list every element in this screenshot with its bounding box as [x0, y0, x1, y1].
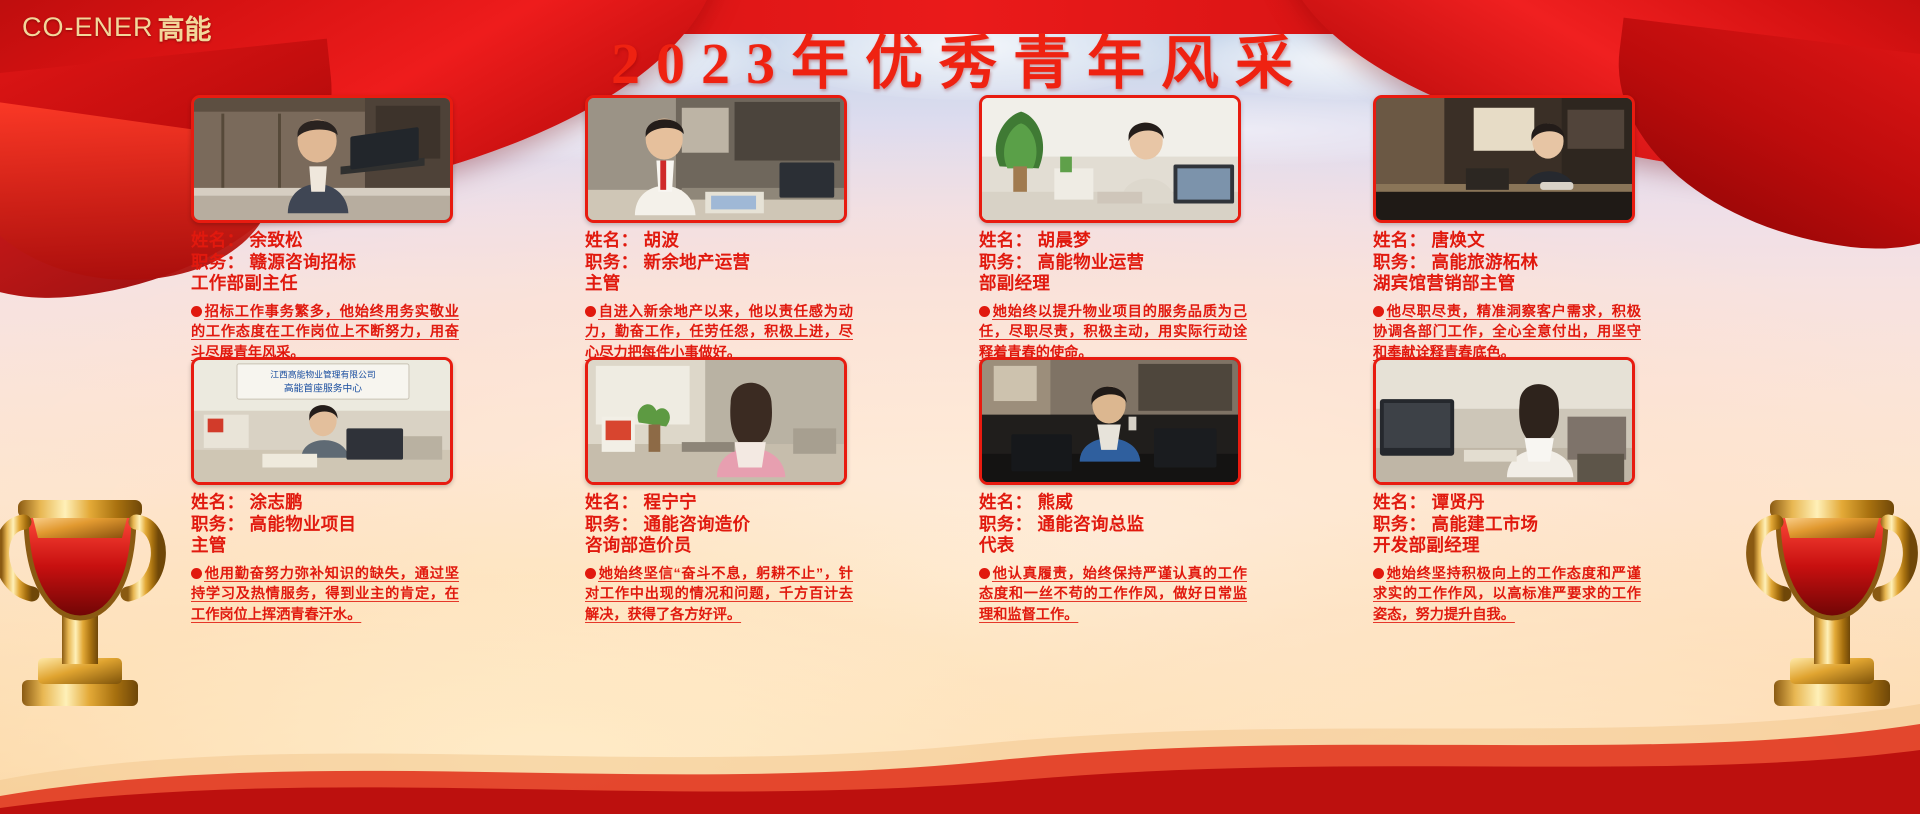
person-photo	[1376, 98, 1632, 223]
person-info: 姓名： 唐焕文 职务： 高能旅游柘林 湖宾馆营销部主管 他尽职尽责，精准洞察客户…	[1373, 230, 1643, 363]
person-role-line1: 职务： 赣源咨询招标	[191, 252, 461, 274]
person-description: 他尽职尽责，精准洞察客户需求，积极协调各部门工作，全心全意付出，用坚守和奉献诠释…	[1373, 302, 1641, 364]
person-role-line2: 主管	[585, 273, 855, 295]
person-photo	[982, 98, 1238, 223]
person-card: 江西高能物业管理有限公司 高能首座服务中心 姓名： 涂志鹏 职务： 高能物业项目	[191, 357, 557, 607]
person-description-text: 他用勤奋努力弥补知识的缺失，通过坚持学习及热情服务，得到业主的肯定，在工作岗位上…	[191, 566, 459, 623]
person-role-line1: 职务： 通能咨询造价	[585, 514, 855, 536]
person-photo	[982, 360, 1238, 485]
person-description: 自进入新余地产以来，他以责任感为动力，勤奋工作，任劳任怨，积极上进，尽心尽力把每…	[585, 302, 853, 364]
person-role-line2: 工作部副主任	[191, 273, 461, 295]
brand-logo-latin: CO-ENER	[22, 12, 154, 43]
person-card: 姓名： 熊威 职务： 通能咨询总监 代表 他认真履责，始终保持严谨认真的工作态度…	[979, 357, 1345, 607]
person-photo-frame	[585, 95, 847, 223]
person-photo	[1376, 360, 1632, 485]
person-info: 姓名： 胡晨梦 职务： 高能物业运营 部副经理 她始终以提升物业项目的服务品质为…	[979, 230, 1249, 363]
person-role-line1: 职务： 高能物业运营	[979, 252, 1249, 274]
person-description: 她始终以提升物业项目的服务品质为己任，尽职尽责，积极主动，用实际行动诠释着青春的…	[979, 302, 1247, 364]
person-info: 姓名： 谭贤丹 职务： 高能建工市场 开发部副经理 她始终坚持积极向上的工作态度…	[1373, 492, 1643, 625]
person-photo	[588, 98, 844, 223]
person-description-text: 他尽职尽责，精准洞察客户需求，积极协调各部门工作，全心全意付出，用坚守和奉献诠释…	[1373, 304, 1641, 361]
person-photo-frame: 江西高能物业管理有限公司 高能首座服务中心	[191, 357, 453, 485]
person-role-line1: 职务： 高能旅游柘林	[1373, 252, 1643, 274]
person-role-line2: 咨询部造价员	[585, 535, 855, 557]
person-role-line1: 职务： 新余地产运营	[585, 252, 855, 274]
person-info: 姓名： 胡波 职务： 新余地产运营 主管 自进入新余地产以来，他以责任感为动力，…	[585, 230, 855, 363]
person-info: 姓名： 余致松 职务： 赣源咨询招标 工作部副主任 招标工作事务繁多，他始终用务…	[191, 230, 461, 363]
person-card: 姓名： 唐焕文 职务： 高能旅游柘林 湖宾馆营销部主管 他尽职尽责，精准洞察客户…	[1373, 95, 1739, 345]
person-description: 招标工作事务繁多，他始终用务实敬业的工作态度在工作岗位上不断努力，用奋斗尽展青年…	[191, 302, 459, 364]
page-title: 2023年优秀青年风采	[0, 16, 1920, 100]
person-role-line1: 职务： 高能建工市场	[1373, 514, 1643, 536]
person-photo: 江西高能物业管理有限公司 高能首座服务中心	[194, 360, 450, 485]
bullet-icon	[191, 306, 202, 317]
person-name-line: 姓名： 胡晨梦	[979, 230, 1249, 252]
person-description: 她始终坚信“奋斗不息，躬耕不止”，针对工作中出现的情况和问题，千方百计去解决，获…	[585, 564, 853, 626]
person-photo	[588, 360, 844, 485]
person-role-line2: 代表	[979, 535, 1249, 557]
person-role-line1: 职务： 高能物业项目	[191, 514, 461, 536]
person-photo-frame	[585, 357, 847, 485]
person-info: 姓名： 熊威 职务： 通能咨询总监 代表 他认真履责，始终保持严谨认真的工作态度…	[979, 492, 1249, 625]
poster-canvas: CO-ENER 高能 2023年优秀青年风采	[0, 0, 1920, 814]
person-photo-frame	[1373, 357, 1635, 485]
bullet-icon	[585, 306, 596, 317]
bullet-icon	[191, 568, 202, 579]
person-card: 姓名： 胡晨梦 职务： 高能物业运营 部副经理 她始终以提升物业项目的服务品质为…	[979, 95, 1345, 345]
person-photo-frame	[1373, 95, 1635, 223]
person-description-text: 招标工作事务繁多，他始终用务实敬业的工作态度在工作岗位上不断努力，用奋斗尽展青年…	[191, 304, 459, 361]
person-description: 他用勤奋努力弥补知识的缺失，通过坚持学习及热情服务，得到业主的肯定，在工作岗位上…	[191, 564, 459, 626]
person-card: 姓名： 胡波 职务： 新余地产运营 主管 自进入新余地产以来，他以责任感为动力，…	[585, 95, 951, 345]
person-role-line2: 湖宾馆营销部主管	[1373, 273, 1643, 295]
person-name-line: 姓名： 余致松	[191, 230, 461, 252]
person-description-text: 她始终坚持积极向上的工作态度和严谨求实的工作作风，以高标准严要求的工作姿态，努力…	[1373, 566, 1641, 623]
people-grid: 姓名： 余致松 职务： 赣源咨询招标 工作部副主任 招标工作事务繁多，他始终用务…	[0, 95, 1920, 785]
bullet-icon	[1373, 568, 1384, 579]
person-name-line: 姓名： 涂志鹏	[191, 492, 461, 514]
person-description: 他认真履责，始终保持严谨认真的工作态度和一丝不苟的工作作风，做好日常监理和监督工…	[979, 564, 1247, 626]
bullet-icon	[1373, 306, 1384, 317]
person-name-line: 姓名： 谭贤丹	[1373, 492, 1643, 514]
person-photo-frame	[979, 95, 1241, 223]
person-role-line1: 职务： 通能咨询总监	[979, 514, 1249, 536]
person-name-line: 姓名： 胡波	[585, 230, 855, 252]
person-name-line: 姓名： 熊威	[979, 492, 1249, 514]
brand-logo: CO-ENER 高能	[22, 8, 212, 47]
sign-line-1: 江西高能物业管理有限公司	[270, 369, 375, 381]
person-photo-frame	[191, 95, 453, 223]
person-card: 姓名： 程宁宁 职务： 通能咨询造价 咨询部造价员 她始终坚信“奋斗不息，躬耕不…	[585, 357, 951, 607]
person-description: 她始终坚持积极向上的工作态度和严谨求实的工作作风，以高标准严要求的工作姿态，努力…	[1373, 564, 1641, 626]
person-description-text: 自进入新余地产以来，他以责任感为动力，勤奋工作，任劳任怨，积极上进，尽心尽力把每…	[585, 304, 853, 361]
person-role-line2: 部副经理	[979, 273, 1249, 295]
person-role-line2: 开发部副经理	[1373, 535, 1643, 557]
person-role-line2: 主管	[191, 535, 461, 557]
person-description-text: 她始终以提升物业项目的服务品质为己任，尽职尽责，积极主动，用实际行动诠释着青春的…	[979, 304, 1247, 361]
bullet-icon	[585, 568, 596, 579]
person-info: 姓名： 涂志鹏 职务： 高能物业项目 主管 他用勤奋努力弥补知识的缺失，通过坚持…	[191, 492, 461, 625]
bullet-icon	[979, 568, 990, 579]
person-description-text: 她始终坚信“奋斗不息，躬耕不止”，针对工作中出现的情况和问题，千方百计去解决，获…	[585, 566, 853, 623]
person-card: 姓名： 余致松 职务： 赣源咨询招标 工作部副主任 招标工作事务繁多，他始终用务…	[191, 95, 557, 345]
sign-line-2: 高能首座服务中心	[284, 381, 362, 394]
person-photo	[194, 98, 450, 223]
person-card: 姓名： 谭贤丹 职务： 高能建工市场 开发部副经理 她始终坚持积极向上的工作态度…	[1373, 357, 1739, 607]
person-name-line: 姓名： 唐焕文	[1373, 230, 1643, 252]
brand-logo-cn: 高能	[158, 8, 212, 47]
bullet-icon	[979, 306, 990, 317]
person-name-line: 姓名： 程宁宁	[585, 492, 855, 514]
person-info: 姓名： 程宁宁 职务： 通能咨询造价 咨询部造价员 她始终坚信“奋斗不息，躬耕不…	[585, 492, 855, 625]
person-description-text: 他认真履责，始终保持严谨认真的工作态度和一丝不苟的工作作风，做好日常监理和监督工…	[979, 566, 1247, 623]
person-photo-frame	[979, 357, 1241, 485]
